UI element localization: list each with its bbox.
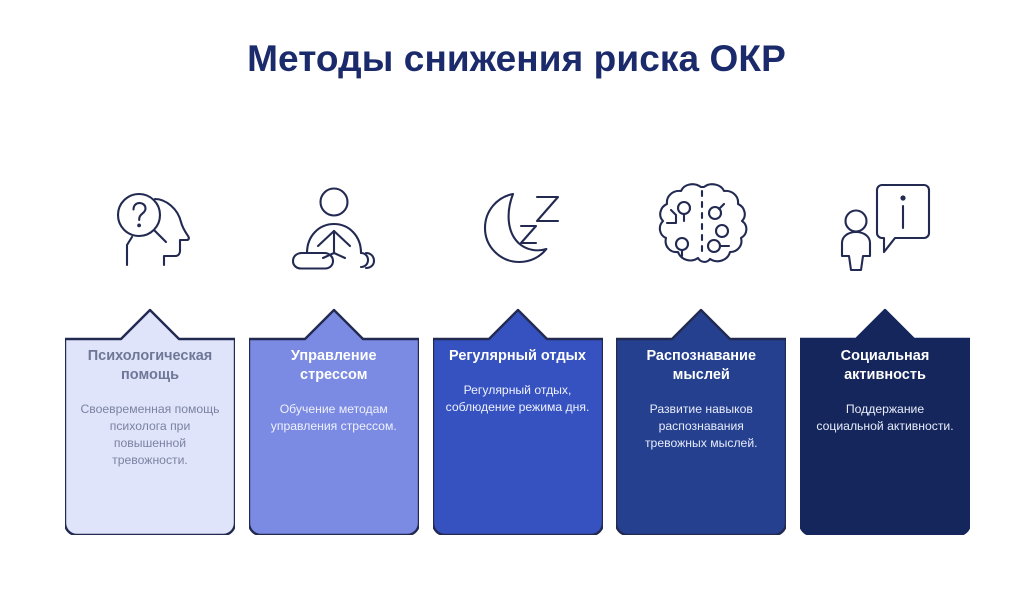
card-5-description: Поддержание социальной активности. bbox=[811, 401, 959, 435]
card-3[interactable]: Регулярный отдых Регулярный отдых, соблю… bbox=[433, 305, 603, 535]
meditating-person-icon bbox=[274, 165, 394, 285]
card-5-title: Социальная активность bbox=[811, 347, 959, 385]
card-column-5: Социальная активность Поддержание социал… bbox=[800, 165, 970, 535]
card-5-body: Социальная активность Поддержание социал… bbox=[800, 327, 970, 535]
card-4-description: Развитие навыков распознавания тревожных… bbox=[627, 401, 775, 451]
card-3-title: Регулярный отдых bbox=[449, 347, 586, 366]
card-4-title: Распознавание мыслей bbox=[627, 347, 775, 385]
card-1-body: Психологическая помощь Своевременная пом… bbox=[65, 327, 235, 535]
brain-circuit-icon bbox=[641, 165, 761, 285]
card-2[interactable]: Управление стрессом Обучение методам упр… bbox=[249, 305, 419, 535]
head-question-magnifier-icon bbox=[90, 165, 210, 285]
moon-sleep-icon bbox=[458, 165, 578, 285]
card-column-4: Распознавание мыслей Развитие навыков ра… bbox=[616, 165, 786, 535]
card-4-body: Распознавание мыслей Развитие навыков ра… bbox=[616, 327, 786, 535]
card-3-body: Регулярный отдых Регулярный отдых, соблю… bbox=[433, 327, 603, 535]
card-1-title: Психологическая помощь bbox=[76, 347, 224, 385]
card-2-title: Управление стрессом bbox=[260, 347, 408, 385]
card-column-3: Регулярный отдых Регулярный отдых, соблю… bbox=[433, 165, 603, 535]
card-5[interactable]: Социальная активность Поддержание социал… bbox=[800, 305, 970, 535]
card-column-1: Психологическая помощь Своевременная пом… bbox=[65, 165, 235, 535]
page-title: Методы снижения риска ОКР bbox=[0, 38, 1033, 81]
card-4[interactable]: Распознавание мыслей Развитие навыков ра… bbox=[616, 305, 786, 535]
card-column-2: Управление стрессом Обучение методам упр… bbox=[249, 165, 419, 535]
infographic-root: Методы снижения риска ОКР bbox=[0, 0, 1033, 596]
card-1[interactable]: Психологическая помощь Своевременная пом… bbox=[65, 305, 235, 535]
card-1-description: Своевременная помощь психолога при повыш… bbox=[76, 401, 224, 468]
cards-row: Психологическая помощь Своевременная пом… bbox=[65, 165, 970, 555]
card-3-description: Регулярный отдых, соблюдение режима дня. bbox=[444, 382, 592, 416]
person-info-bubble-icon bbox=[825, 165, 945, 285]
card-2-body: Управление стрессом Обучение методам упр… bbox=[249, 327, 419, 535]
card-2-description: Обучение методам управления стрессом. bbox=[260, 401, 408, 435]
